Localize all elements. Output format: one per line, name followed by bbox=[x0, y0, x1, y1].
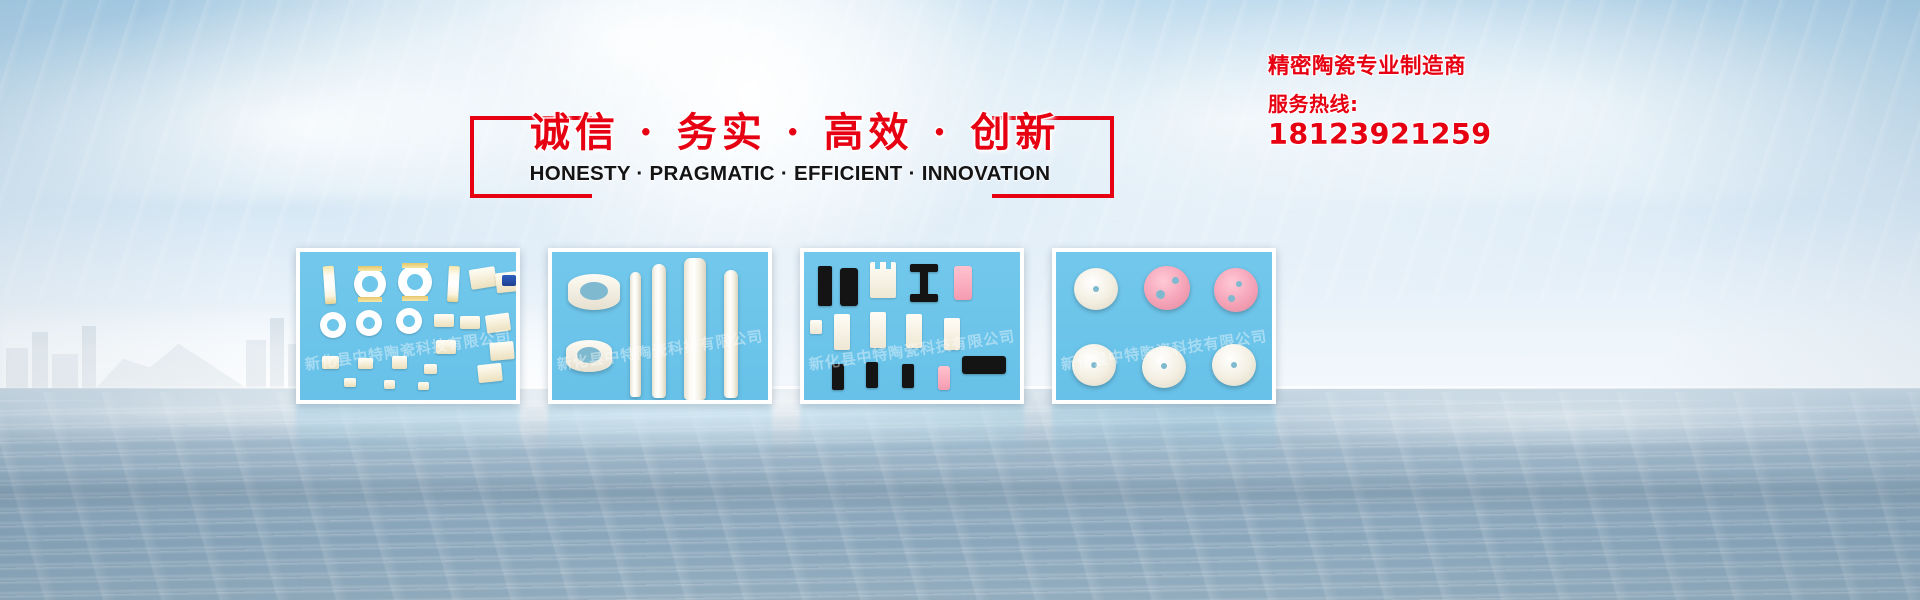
part-ring bbox=[320, 312, 346, 338]
part-pink-block bbox=[938, 366, 950, 390]
part-chip bbox=[460, 316, 480, 329]
contact-headline: 精密陶瓷专业制造商 bbox=[1268, 54, 1668, 80]
slogan-chinese: 诚信 · 务实 · 高效 · 创新 bbox=[530, 100, 1050, 158]
part-disc-white bbox=[1074, 268, 1118, 310]
part-black-bar bbox=[962, 356, 1006, 374]
part-ring bbox=[396, 308, 422, 334]
part-bushing bbox=[568, 274, 620, 310]
part-ivory-holder bbox=[870, 262, 896, 298]
part-bushing bbox=[566, 340, 612, 372]
part-black-ibar bbox=[920, 270, 928, 296]
part-tube bbox=[724, 270, 738, 398]
part-chip bbox=[418, 382, 429, 390]
disc-hole bbox=[1172, 277, 1179, 284]
panel-reflections bbox=[296, 404, 1276, 460]
part-ring bbox=[398, 265, 432, 299]
part-chip bbox=[384, 380, 395, 389]
part-cap bbox=[447, 266, 460, 303]
panel-reflection bbox=[1052, 404, 1276, 460]
slogan-block: 诚信 · 务实 · 高效 · 创新 HONESTY · PRAGMATIC · … bbox=[470, 104, 1110, 204]
part-chip bbox=[477, 363, 503, 383]
disc-hole bbox=[1161, 363, 1167, 369]
part-black-block bbox=[832, 364, 844, 390]
part-chip bbox=[344, 378, 356, 387]
part-chip bbox=[392, 356, 407, 369]
part-ivory-block bbox=[870, 312, 886, 348]
part-ivory-block bbox=[906, 314, 922, 348]
part-chip bbox=[485, 312, 511, 333]
part-disc-pink bbox=[1214, 268, 1258, 312]
part-chip bbox=[436, 340, 456, 354]
disc-hole bbox=[1093, 286, 1099, 292]
panel-reflection bbox=[296, 404, 520, 460]
part-black-clip bbox=[840, 268, 858, 306]
disc-hole bbox=[1091, 362, 1097, 368]
part-tube bbox=[684, 258, 706, 400]
part-black-block bbox=[902, 364, 914, 388]
part-ivory-block bbox=[944, 318, 960, 350]
part-black-block bbox=[866, 362, 878, 388]
part-chip bbox=[424, 364, 437, 374]
part-ring-band bbox=[402, 296, 428, 301]
part-disc-pink bbox=[1144, 266, 1190, 310]
contact-hotline-label: 服务热线: bbox=[1268, 92, 1668, 116]
ground-shadow-band bbox=[0, 470, 1920, 516]
part-ivory-block bbox=[834, 314, 850, 350]
part-ring bbox=[354, 268, 386, 300]
product-panel-1[interactable]: 新化县中特陶瓷科技有限公司 bbox=[296, 248, 520, 404]
contact-phone-number[interactable]: 18123921259 bbox=[1268, 119, 1668, 151]
part-tube bbox=[630, 272, 641, 397]
disc-hole bbox=[1231, 362, 1237, 368]
part-ivory-block bbox=[810, 320, 822, 334]
part-pink-block bbox=[954, 266, 972, 300]
part-ring-band bbox=[358, 297, 382, 302]
product-panel-4[interactable]: 新化县中特陶瓷科技有限公司 bbox=[1052, 248, 1276, 404]
disc-hole bbox=[1228, 295, 1235, 302]
product-panel-row: 新化县中特陶瓷科技有限公司 新化县中特陶瓷科技有限公司 bbox=[296, 248, 1276, 404]
part-ivory-notch bbox=[875, 260, 880, 269]
bushing-bore bbox=[577, 347, 601, 363]
part-disc-white bbox=[1072, 344, 1116, 386]
part-ring-band bbox=[402, 263, 428, 268]
slogan-english: HONESTY · PRAGMATIC · EFFICIENT · INNOVA… bbox=[510, 162, 1070, 186]
part-ring-band bbox=[358, 266, 382, 271]
panel-reflection bbox=[548, 404, 772, 460]
product-panel-2[interactable]: 新化县中特陶瓷科技有限公司 bbox=[548, 248, 772, 404]
part-chip bbox=[434, 314, 454, 327]
part-chip bbox=[489, 341, 514, 361]
hero-banner: 诚信 · 务实 · 高效 · 创新 HONESTY · PRAGMATIC · … bbox=[0, 0, 1920, 600]
part-disc-white bbox=[1142, 346, 1186, 388]
bushing-bore bbox=[580, 282, 608, 300]
part-tube bbox=[652, 264, 666, 398]
part-ivory-notch bbox=[886, 260, 891, 269]
part-black-clip bbox=[818, 266, 832, 306]
part-chip bbox=[469, 266, 498, 290]
disc-hole bbox=[1156, 290, 1165, 299]
part-disc-white bbox=[1212, 344, 1256, 386]
part-chip bbox=[322, 356, 339, 369]
panel-reflection bbox=[800, 404, 1024, 460]
disc-hole bbox=[1236, 281, 1242, 287]
part-chip-blue bbox=[502, 275, 516, 286]
contact-block: 精密陶瓷专业制造商 服务热线: 18123921259 bbox=[1268, 54, 1668, 151]
part-black-ibar bbox=[910, 294, 938, 302]
part-chip bbox=[358, 358, 373, 369]
product-panel-3[interactable]: 新化县中特陶瓷科技有限公司 bbox=[800, 248, 1024, 404]
part-ring bbox=[356, 310, 382, 336]
